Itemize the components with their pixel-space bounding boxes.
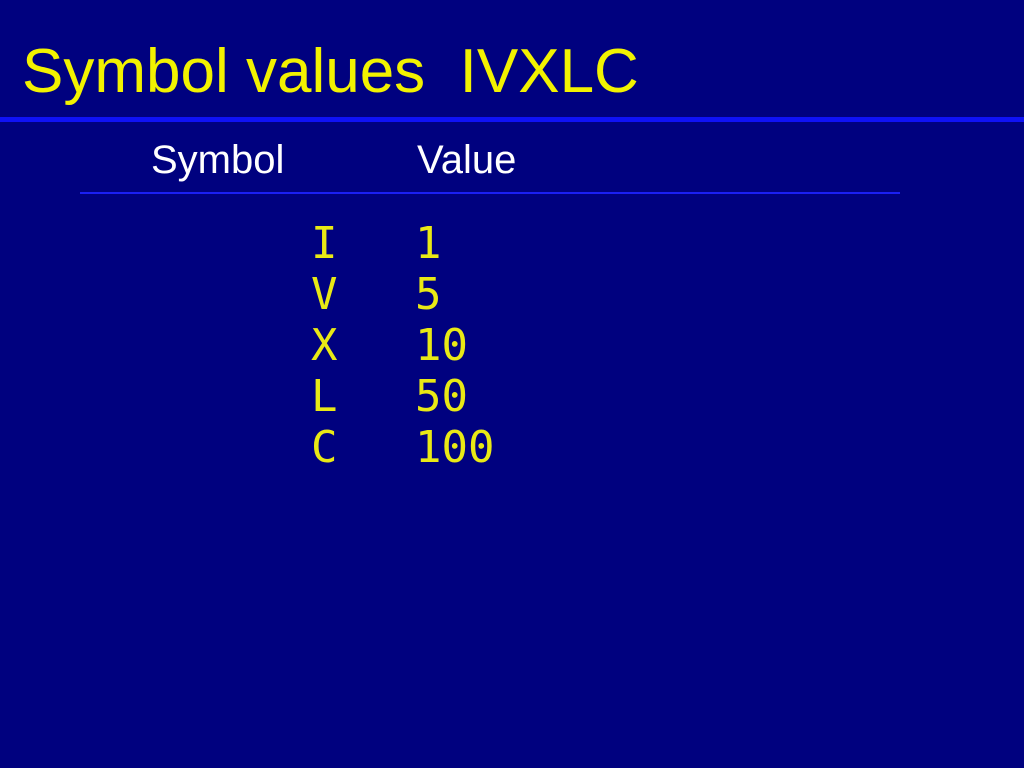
cell-value: 5 bbox=[415, 269, 442, 320]
column-header-value: Value bbox=[417, 136, 516, 184]
cell-symbol: V bbox=[311, 269, 338, 320]
cell-symbol: I bbox=[311, 218, 338, 269]
cell-value: 100 bbox=[415, 422, 494, 473]
table-header-row: Symbol Value bbox=[0, 136, 1024, 184]
title-divider bbox=[0, 117, 1024, 122]
header-divider bbox=[80, 192, 900, 194]
table-row: X 10 bbox=[0, 320, 1024, 371]
page-title: Symbol values IVXLC bbox=[22, 35, 1002, 109]
table-body: I 1 V 5 X 10 L 50 C 100 bbox=[0, 218, 1024, 473]
cell-value: 50 bbox=[415, 371, 468, 422]
table-row: L 50 bbox=[0, 371, 1024, 422]
cell-value: 1 bbox=[415, 218, 442, 269]
cell-symbol: C bbox=[311, 422, 338, 473]
cell-value: 10 bbox=[415, 320, 468, 371]
cell-symbol: X bbox=[311, 320, 338, 371]
slide-canvas: Symbol values IVXLC Symbol Value I 1 V 5… bbox=[0, 0, 1024, 768]
table-row: C 100 bbox=[0, 422, 1024, 473]
cell-symbol: L bbox=[311, 371, 338, 422]
table-row: I 1 bbox=[0, 218, 1024, 269]
table-row: V 5 bbox=[0, 269, 1024, 320]
column-header-symbol: Symbol bbox=[151, 136, 284, 184]
